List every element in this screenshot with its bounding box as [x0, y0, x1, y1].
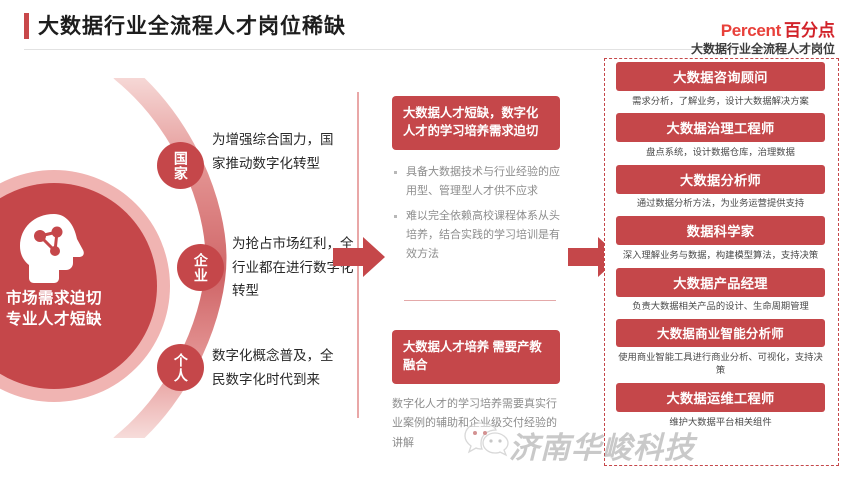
node-individual[interactable]: 个人	[157, 344, 204, 391]
list-item[interactable]: 大数据产品经理 负责大数据相关产品的设计、生命周期管理	[608, 268, 833, 317]
arrow-left-to-middle	[333, 237, 385, 277]
job-title: 大数据分析师	[616, 165, 825, 194]
job-desc: 通过数据分析方法，为业务运营提供支持	[608, 194, 833, 214]
job-title: 大数据运维工程师	[616, 383, 825, 412]
middle-block-1: 大数据人才短缺，数字化人才的学习培养需求迫切 具备大数据技术与行业经验的应用型、…	[392, 96, 560, 271]
brand-logo-cn: 百分点	[784, 21, 835, 40]
list-item[interactable]: 大数据分析师 通过数据分析方法，为业务运营提供支持	[608, 165, 833, 214]
job-title: 大数据治理工程师	[616, 113, 825, 142]
job-desc: 需求分析，了解业务，设计大数据解决方案	[608, 91, 833, 111]
middle-bullet-list: 具备大数据技术与行业经验的应用型、管理型人才供不应求 难以完全依赖高校课程体系从…	[392, 163, 560, 265]
list-item[interactable]: 大数据运维工程师 维护大数据平台相关组件	[608, 383, 833, 432]
node-text-individual: 数字化概念普及，全民数字化时代到来	[212, 344, 340, 391]
node-text-country: 为增强综合国力，国家推动数字化转型	[212, 128, 340, 175]
middle-bullet-1: 难以完全依赖高校课程体系从头培养，结合实践的学习培训是有效方法	[392, 207, 560, 264]
panel-heading: 大数据行业全流程人才岗位	[691, 40, 835, 57]
node-country[interactable]: 国家	[157, 142, 204, 189]
job-desc: 负责大数据相关产品的设计、生命周期管理	[608, 297, 833, 317]
brand-logo-en: Percent	[721, 21, 781, 40]
node-enterprise[interactable]: 企业	[177, 244, 224, 291]
job-title: 大数据商业智能分析师	[616, 319, 825, 347]
job-title: 大数据咨询顾问	[616, 62, 825, 91]
jobs-list: 大数据咨询顾问 需求分析，了解业务，设计大数据解决方案 大数据治理工程师 盘点系…	[608, 62, 833, 435]
middle-block-2: 大数据人才培养 需要产教融合 数字化人才的学习培养需要真实行业案例的辅助和企业级…	[392, 330, 560, 453]
list-item[interactable]: 数据科学家 深入理解业务与数据，构建模型算法，支持决策	[608, 216, 833, 265]
middle-box1-title: 大数据人才短缺，数字化人才的学习培养需求迫切	[392, 96, 560, 150]
middle-separator	[404, 300, 556, 301]
list-item[interactable]: 大数据咨询顾问 需求分析，了解业务，设计大数据解决方案	[608, 62, 833, 111]
brand-logo: Percent百分点	[721, 16, 835, 41]
slide-canvas: 大数据行业全流程人才岗位稀缺 Percent百分点 大数据行业全流程人才岗位	[0, 0, 851, 479]
job-desc: 深入理解业务与数据，构建模型算法，支持决策	[608, 245, 833, 265]
middle-bullet-0: 具备大数据技术与行业经验的应用型、管理型人才供不应求	[392, 163, 560, 201]
job-title: 数据科学家	[616, 216, 825, 245]
job-title: 大数据产品经理	[616, 268, 825, 297]
job-desc: 维护大数据平台相关组件	[608, 412, 833, 432]
middle-box2-title: 大数据人才培养 需要产教融合	[392, 330, 560, 384]
job-desc: 使用商业智能工具进行商业分析、可视化，支持决策	[608, 347, 833, 381]
job-desc: 盘点系统，设计数据仓库，治理数据	[608, 142, 833, 162]
list-item[interactable]: 大数据商业智能分析师 使用商业智能工具进行商业分析、可视化，支持决策	[608, 319, 833, 381]
middle-box2-desc: 数字化人才的学习培养需要真实行业案例的辅助和企业级交付经验的讲解	[392, 395, 560, 454]
list-item[interactable]: 大数据治理工程师 盘点系统，设计数据仓库，治理数据	[608, 113, 833, 162]
